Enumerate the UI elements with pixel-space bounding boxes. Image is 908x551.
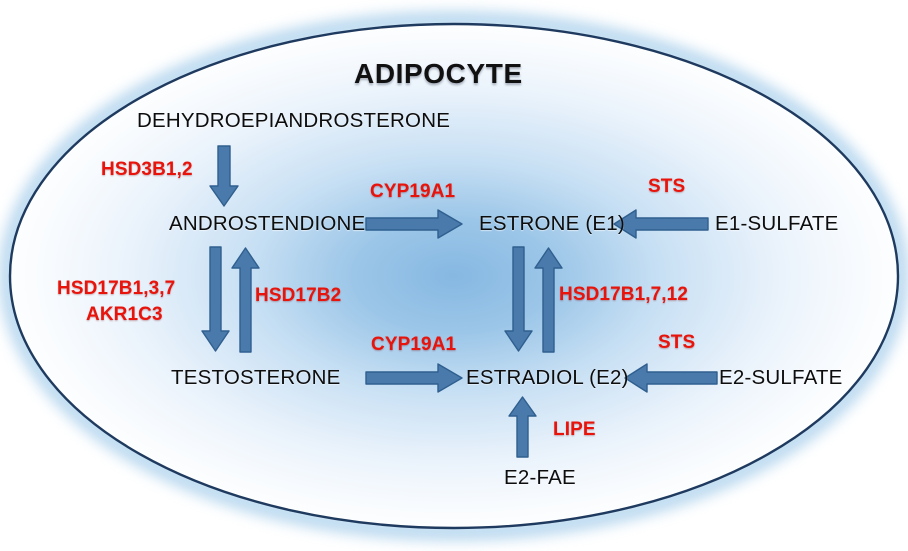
metabolite-estradiol-e2: ESTRADIOL (E2)	[466, 368, 629, 389]
enzyme-hsd17b1-7-12: HSD17B1,7,12	[559, 285, 688, 304]
cell-title: ADIPOCYTE	[354, 60, 523, 88]
enzyme-hsd17b2: HSD17B2	[255, 286, 341, 305]
metabolite-e1-sulfate: E1-SULFATE	[715, 214, 839, 235]
enzyme-cyp19a1-bottom: CYP19A1	[371, 335, 456, 354]
metabolite-estrone-e1: ESTRONE (E1)	[479, 214, 625, 235]
enzyme-sts-estrone: STS	[648, 177, 685, 196]
enzyme-cyp19a1-top: CYP19A1	[370, 182, 455, 201]
arrow-e2sulfate-to-estradiol	[625, 363, 717, 393]
enzyme-akr1c3: AKR1C3	[86, 305, 163, 324]
arrow-androstendione-to-testosterone	[200, 247, 232, 353]
enzyme-hsd3b1-2: HSD3B1,2	[101, 160, 193, 179]
arrow-e2fae-to-estradiol	[507, 396, 539, 458]
arrow-testosterone-to-estradiol	[366, 363, 464, 393]
metabolite-e2-sulfate: E2-SULFATE	[719, 368, 843, 389]
arrow-androstendione-to-estrone	[366, 209, 464, 239]
arrow-e1sulfate-to-estrone	[614, 209, 708, 239]
metabolite-dehydroepiandrosterone: DEHYDROEPIANDROSTERONE	[137, 111, 450, 132]
metabolite-e2-fae: E2-FAE	[504, 468, 576, 489]
arrow-estrone-to-estradiol	[503, 247, 535, 353]
cell-cytoplasm	[10, 24, 898, 528]
enzyme-hsd17b1-3-7: HSD17B1,3,7	[57, 279, 175, 298]
metabolite-androstendione: ANDROSTENDIONE	[169, 214, 365, 235]
pathway-diagram: ADIPOCYTE DEHYDROEPIANDROSTERONE ANDROST…	[0, 0, 908, 551]
enzyme-sts-estradiol: STS	[658, 333, 695, 352]
metabolite-testosterone: TESTOSTERONE	[171, 368, 340, 389]
arrow-dhea-to-androstendione	[207, 146, 241, 208]
enzyme-lipe: LIPE	[553, 420, 596, 439]
